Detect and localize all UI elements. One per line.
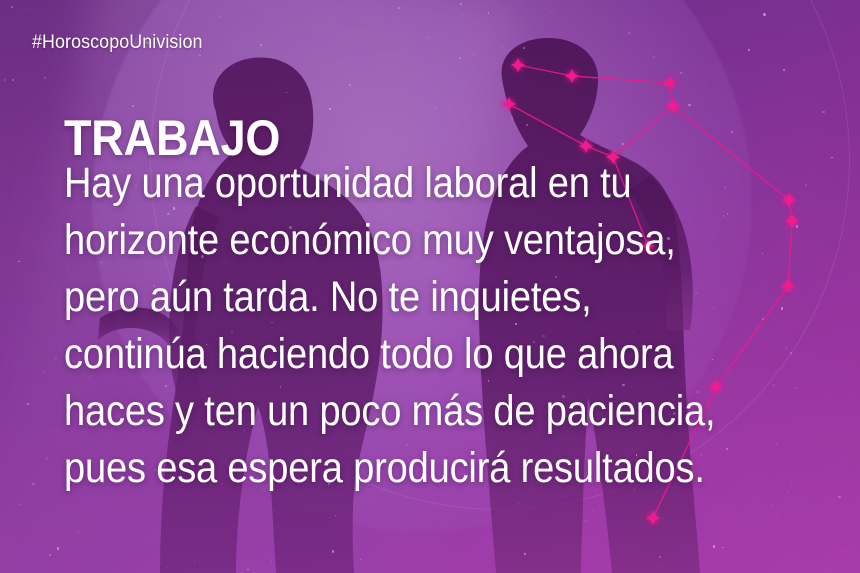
constellation-star — [646, 511, 661, 526]
constellation-line — [509, 104, 586, 146]
constellation-line — [613, 106, 673, 157]
constellation-star — [502, 97, 517, 112]
constellation-line — [572, 76, 670, 83]
body-line: horizonte económico muy ventajosa, — [64, 212, 772, 269]
horoscope-body: Hay una oportunidad laboral en tu horizo… — [64, 155, 860, 497]
body-line: pues esa espera producirá resultados. — [64, 440, 772, 497]
constellation-star — [511, 58, 526, 73]
constellation-star — [579, 139, 594, 154]
body-line: haces y ten un poco más de paciencia, — [64, 383, 772, 440]
body-line: pero aún tarda. No te inquietes, — [64, 269, 772, 326]
body-line: continúa haciendo todo lo que ahora — [64, 326, 772, 383]
constellation-star — [663, 76, 678, 91]
constellation-line — [518, 65, 572, 76]
horoscope-card: #HoroscopoUnivision TRABAJO Hay una opor… — [0, 0, 860, 573]
body-line: Hay una oportunidad laboral en tu — [64, 155, 772, 212]
hashtag-label: #HoroscopoUnivision — [32, 32, 203, 54]
constellation-star — [565, 69, 580, 84]
